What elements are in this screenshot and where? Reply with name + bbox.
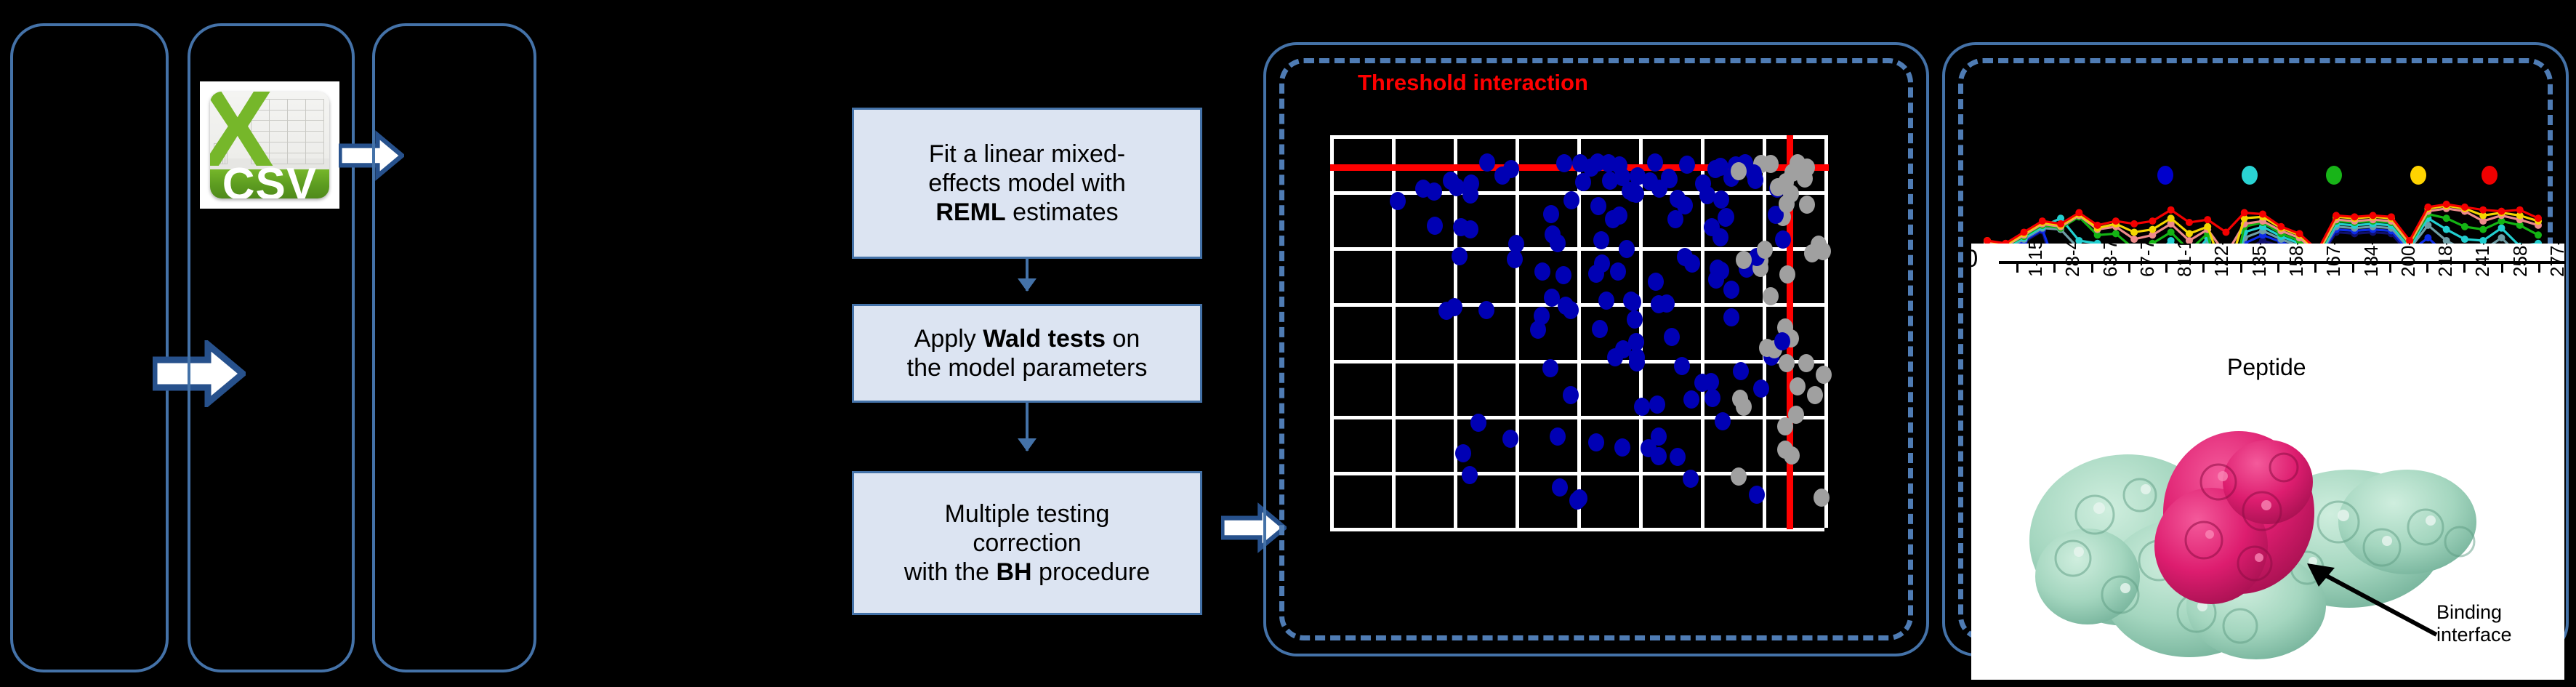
x-axis-tick-label: 135-144 [2248,244,2271,277]
chart-point [2461,204,2468,211]
workflow-diagram: X CSV Fit a linear mixed-effects model w… [0,0,2576,687]
chart-point [2168,206,2175,214]
scatter-point-significant [1478,301,1494,319]
scatter-point-significant [1712,228,1728,246]
scatter-point-significant [1662,170,1678,188]
step-multiple-testing-text: Multiple testingcorrectionwith the BH pr… [904,499,1150,587]
scatter-point-significant [1699,186,1715,204]
scatter-point-significant [1704,389,1720,407]
scatter-point-significant [1611,206,1627,225]
scatter-point-significant [1426,182,1442,201]
scatter-point-significant [1683,470,1699,488]
chart-point [2186,219,2193,226]
x-axis-tick [2091,262,2093,273]
scatter-point-significant [1555,266,1571,284]
scatter-point-nonsignificant [1816,366,1832,384]
chart-point [2535,231,2542,238]
x-axis-tick [2538,262,2540,273]
scatter-point-nonsignificant [1763,155,1779,173]
scatter-point-nonsignificant [1777,441,1793,459]
grid-line-horizontal [1330,416,1824,419]
scatter-point-significant [1462,185,1478,204]
scatter-point-significant [1550,427,1566,446]
scatter-point-significant [1455,444,1471,462]
scatter-point-significant [1588,433,1604,451]
scatter-point-significant [1427,217,1443,235]
scatter-point-significant [1611,156,1627,174]
chart-point [2296,230,2303,237]
grid-line-horizontal [1330,360,1824,363]
x-axis-tick [2277,262,2279,273]
scatter-point-nonsignificant [1807,386,1823,404]
chart-point [2461,223,2468,230]
chart-point [2479,226,2487,233]
scatter-point-significant [1607,348,1623,366]
x-axis-tick-label: 277-284 [2546,244,2564,277]
x-axis-tick [2501,262,2503,273]
chart-point [2370,212,2377,219]
chart-point [2204,223,2211,230]
x-axis-tick [2053,262,2056,273]
scatter-point-significant [1664,328,1680,346]
binding-interface-line1: Binding [2436,601,2512,624]
scatter-point-nonsignificant [1757,241,1773,259]
x-axis-tick-label: 67-75 [2136,244,2159,277]
x-axis-tick-label: 258-266 [2509,244,2532,277]
scatter-point-significant [1563,301,1579,319]
scatter-point-significant [1619,240,1635,258]
scatter-point-nonsignificant [1779,195,1795,213]
scatter-point-significant [1592,320,1608,338]
chart-point [2535,214,2542,222]
x-axis-tick [2389,262,2391,273]
csv-file-icon: X CSV [200,81,339,209]
scatter-point-significant [1749,486,1765,504]
x-axis-tick-label: 28-44 [2061,244,2084,277]
connector-2 [1026,403,1029,451]
scatter-point-significant [1746,164,1762,182]
scatter-point-nonsignificant [1731,467,1747,486]
x-axis-tick [2016,262,2018,273]
chart-point [2351,213,2358,220]
chart-point [2204,216,2211,223]
grid-line-horizontal [1330,528,1824,531]
scatter-point-significant [1462,466,1478,484]
chart-point [2388,213,2395,220]
chart-point [2443,201,2450,208]
scatter-point-significant [1462,220,1478,238]
scatter-point-significant [1723,308,1739,326]
x-axis-tick-label: 167-180 [2322,244,2345,277]
grid-line-vertical [1824,135,1828,528]
scatter-point-significant [1443,172,1459,190]
x-axis-tick-label: 241-257 [2471,244,2494,277]
chart-point [2497,225,2505,232]
chart-point [2130,220,2138,228]
chart-point [2479,206,2487,214]
chart-point [2186,230,2193,237]
x-axis-tick [2128,262,2130,273]
step-fit-model-text: Fit a linear mixed-effects model withREM… [928,140,1126,227]
step-box-wald-tests[interactable]: Apply Wald tests onthe model parameters [852,304,1202,403]
chart-point [2149,217,2156,225]
binding-interface-line2: interface [2436,624,2512,646]
scatter-point-nonsignificant [1763,287,1779,305]
csv-label: CSV [210,169,329,198]
scatter-point-significant [1670,190,1686,208]
scatter-point-significant [1556,154,1572,172]
chart-point [2241,209,2248,217]
scatter-point-significant [1634,398,1650,416]
scatter-point-nonsignificant [1798,354,1814,372]
chart-point [2130,236,2138,243]
scatter-point-significant [1452,247,1468,265]
volcano-plot: Threshold interaction Threshold state [1263,42,1929,656]
scatter-point-nonsignificant [1799,158,1815,177]
chart-point [2277,223,2285,230]
chart-point [2443,226,2450,233]
grid-line-horizontal [1330,472,1824,475]
scatter-point-nonsignificant [1732,390,1748,408]
scatter-point-significant [1507,250,1523,268]
chart-point [2075,209,2082,217]
scatter-point-significant [1647,153,1663,172]
peptide-axis-structure-card: 1-1528-4463-7367-7581-101122-129135-1441… [1971,244,2564,680]
chart-point [2112,217,2120,225]
scatter-point-significant [1683,390,1699,409]
x-axis-tick [2426,262,2428,273]
csv-icon-body: X CSV [210,92,329,198]
scatter-point-significant [1713,190,1729,209]
scatter-point-significant [1670,448,1686,466]
y-axis-tick-0: 0.0 [1971,245,1978,273]
panel-data-collection [10,23,169,672]
chart-point [2497,234,2505,241]
scatter-point-significant [1659,294,1675,313]
x-axis-tick-label: 184-199 [2360,244,2383,277]
chart-point [2516,206,2524,214]
scatter-point-significant [1710,260,1726,278]
scatter-point-significant [1590,197,1606,215]
chart-point [2021,228,2028,236]
scatter-point-significant [1625,293,1641,311]
panel-statistical-analysis [372,23,536,672]
x-axis-tick-label: 218-237 [2434,244,2457,277]
scatter-point-significant [1602,172,1618,190]
chart-point [2112,230,2120,237]
step-box-multiple-testing[interactable]: Multiple testingcorrectionwith the BH pr… [852,471,1202,615]
x-axis-tick [2165,262,2168,273]
chart-point [2222,228,2229,236]
scatter-point-nonsignificant [1804,244,1820,262]
scatter-point-nonsignificant [1784,164,1800,182]
scatter-point-significant [1684,254,1700,273]
chart-point [2130,228,2138,236]
scatter-point-nonsignificant [1790,377,1806,395]
scatter-point-significant [1753,379,1769,398]
x-axis-tick [2202,262,2205,273]
scatter-point-significant [1569,491,1585,510]
scatter-point-significant [1575,173,1591,191]
scatter-point-significant [1679,156,1695,174]
chart-point [2168,214,2175,222]
grid-line-horizontal [1330,135,1824,139]
scatter-point-significant [1598,292,1614,310]
scatter-point-significant [1629,348,1645,366]
scatter-point-significant [1479,153,1495,172]
chart-point [2424,204,2431,211]
chart-point [2168,228,2175,236]
chart-point [2057,220,2064,228]
step-box-fit-model[interactable]: Fit a linear mixed-effects model withREM… [852,108,1202,259]
scatter-point-significant [1446,298,1462,316]
x-axis-tick [2463,262,2466,273]
scatter-point-significant [1775,230,1791,249]
scatter-point-significant [1703,373,1719,391]
chart-point [2149,226,2156,233]
binding-interface-annotation: Binding interface [2436,601,2512,646]
chart-point [2259,210,2266,217]
scatter-point-significant [1649,395,1665,414]
x-axis-tick-label: 81-101 [2173,244,2196,277]
x-axis-tick [2314,262,2317,273]
scatter-point-significant [1545,225,1561,244]
x-axis-tick-label: 158-166 [2285,244,2308,277]
scatter-point-significant [1593,231,1609,249]
chart-point [2039,217,2046,225]
scatter-point-nonsignificant [1779,265,1795,284]
chart-point [2424,234,2431,241]
scatter-point-significant [1470,414,1486,432]
scatter-point-significant [1588,265,1604,283]
scatter-point-significant [1552,478,1568,497]
x-axis-tick [2352,262,2354,273]
scatter-point-nonsignificant [1759,339,1775,357]
chart-point [2461,236,2468,243]
chart-point [2333,212,2340,219]
x-axis-tick-label: 1-15 [2024,244,2047,277]
scatter-point-significant [1534,307,1550,325]
connector-1 [1026,259,1029,291]
scatter-point-significant [1723,281,1739,299]
step-wald-tests-text: Apply Wald tests onthe model parameters [907,324,1148,382]
x-axis-tick-label: 63-73 [2099,244,2122,277]
scatter-point-nonsignificant [1799,196,1815,214]
chart-point [2497,208,2505,215]
scatter-point-significant [1648,273,1664,291]
scatter-point-significant [1494,166,1510,185]
scatter-point-significant [1774,332,1790,350]
scatter-point-significant [1542,359,1558,377]
scatter-point-significant [1614,438,1630,457]
scatter-point-significant [1390,192,1406,210]
x-axis-tick-label: 122-129 [2210,244,2233,277]
chart-point [2443,214,2450,222]
scatter-point-significant [1534,262,1550,281]
scatter-point-significant [1674,357,1690,375]
csv-x-letter: X [214,97,262,158]
scatter-point-significant [1718,208,1734,226]
scatter-point-nonsignificant [1731,162,1747,180]
scatter-point-significant [1610,262,1626,281]
scatter-point-significant [1715,412,1731,430]
scatter-point-significant [1651,427,1667,446]
x-axis-tick [2240,262,2242,273]
chart-point [2094,222,2101,229]
scatter-point-significant [1543,205,1559,223]
scatter-point-significant [1563,386,1579,404]
x-axis-tick-label: 200-214 [2397,244,2420,277]
scatter-point-significant [1733,362,1749,380]
